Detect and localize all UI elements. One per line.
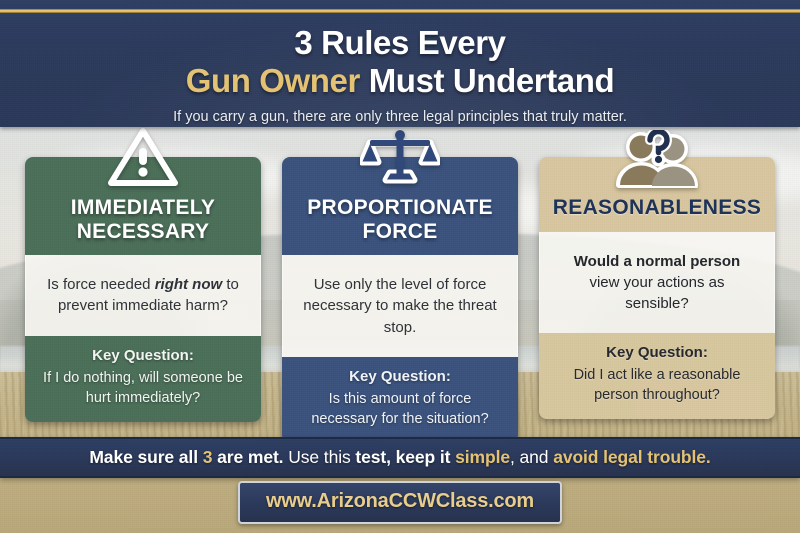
- body-pre: Use only the level of force necessary to…: [303, 276, 496, 336]
- website-url-row: www.ArizonaCCWClass.com: [0, 481, 800, 524]
- header-banner: 3 Rules Every Gun Owner Must Undertand I…: [0, 0, 800, 127]
- footer-summary-text: Make sure all 3 are met. Use this test, …: [89, 447, 710, 468]
- body-pre: Would a normal person: [574, 253, 740, 270]
- key-question-text: Is this amount of force necessary for th…: [295, 389, 505, 429]
- card-title-line-2: FORCE: [292, 220, 508, 244]
- card-title: IMMEDIATELY NECESSARY: [35, 196, 251, 243]
- two-people-question-icon: [615, 126, 699, 188]
- body-pre: Is force needed: [47, 276, 155, 293]
- rule-card-immediately-necessary[interactable]: IMMEDIATELY NECESSARY Is force needed ri…: [25, 157, 261, 422]
- footer-part-2: are met.: [212, 447, 288, 467]
- title-line-1: 3 Rules Every: [0, 24, 800, 61]
- page-subtitle: If you carry a gun, there are only three…: [0, 109, 800, 125]
- card-key-question-tan: Key Question: Did I act like a reasonabl…: [539, 333, 775, 419]
- title-gold-phrase: Gun Owner: [186, 62, 360, 99]
- card-title-line-1: IMMEDIATELY: [35, 196, 251, 220]
- card-key-question-green: Key Question: If I do nothing, will some…: [25, 336, 261, 422]
- key-question-text: If I do nothing, will someone be hurt im…: [38, 368, 248, 408]
- rule-card-reasonableness[interactable]: REASONABLENESS Would a normal person vie…: [539, 157, 775, 419]
- footer-summary-banner: Make sure all 3 are met. Use this test, …: [0, 437, 800, 478]
- website-url-button[interactable]: www.ArizonaCCWClass.com: [238, 481, 562, 524]
- warning-triangle-icon: [101, 126, 185, 188]
- rules-card-row: IMMEDIATELY NECESSARY Is force needed ri…: [0, 127, 800, 430]
- footer-highlight-simple: simple: [455, 447, 510, 467]
- key-question-label: Key Question:: [552, 344, 762, 361]
- card-key-question-navy: Key Question: Is this amount of force ne…: [282, 357, 518, 443]
- card-title: REASONABLENESS: [549, 196, 765, 220]
- website-url-label: www.ArizonaCCWClass.com: [266, 490, 534, 512]
- card-title-line-1: PROPORTIONATE: [292, 196, 508, 220]
- page-title: 3 Rules Every Gun Owner Must Undertand: [0, 24, 800, 100]
- title-line-2: Gun Owner Must Undertand: [0, 62, 800, 99]
- footer-part-3: Use this: [288, 447, 350, 467]
- body-emphasis: right now: [155, 276, 223, 293]
- scales-of-justice-icon: [358, 126, 442, 188]
- footer-highlight-avoid-legal-trouble: avoid legal trouble.: [553, 447, 710, 467]
- rule-card-proportionate-force[interactable]: PROPORTIONATE FORCE Use only the level o…: [282, 157, 518, 443]
- card-body-text: Would a normal person view your actions …: [539, 232, 775, 334]
- card-title-line-1: REASONABLENESS: [549, 196, 765, 220]
- title-rest-phrase: Must Undertand: [360, 62, 614, 99]
- key-question-text: Did I act like a reasonable person throu…: [552, 365, 762, 405]
- body-post: view your actions as sensible?: [589, 274, 724, 312]
- card-title-line-2: NECESSARY: [35, 220, 251, 244]
- card-body-text: Use only the level of force necessary to…: [282, 255, 518, 357]
- key-question-label: Key Question:: [295, 368, 505, 385]
- footer-part-4: test, keep it: [351, 447, 456, 467]
- footer-part-5: , and: [510, 447, 553, 467]
- footer-part-1: Make sure all: [89, 447, 202, 467]
- footer-count: 3: [203, 447, 213, 467]
- card-body-text: Is force needed right now to prevent imm…: [25, 255, 261, 336]
- key-question-label: Key Question:: [38, 347, 248, 364]
- header-gold-rule: [0, 9, 800, 13]
- infographic-root: 3 Rules Every Gun Owner Must Undertand I…: [0, 0, 800, 533]
- card-title: PROPORTIONATE FORCE: [292, 196, 508, 243]
